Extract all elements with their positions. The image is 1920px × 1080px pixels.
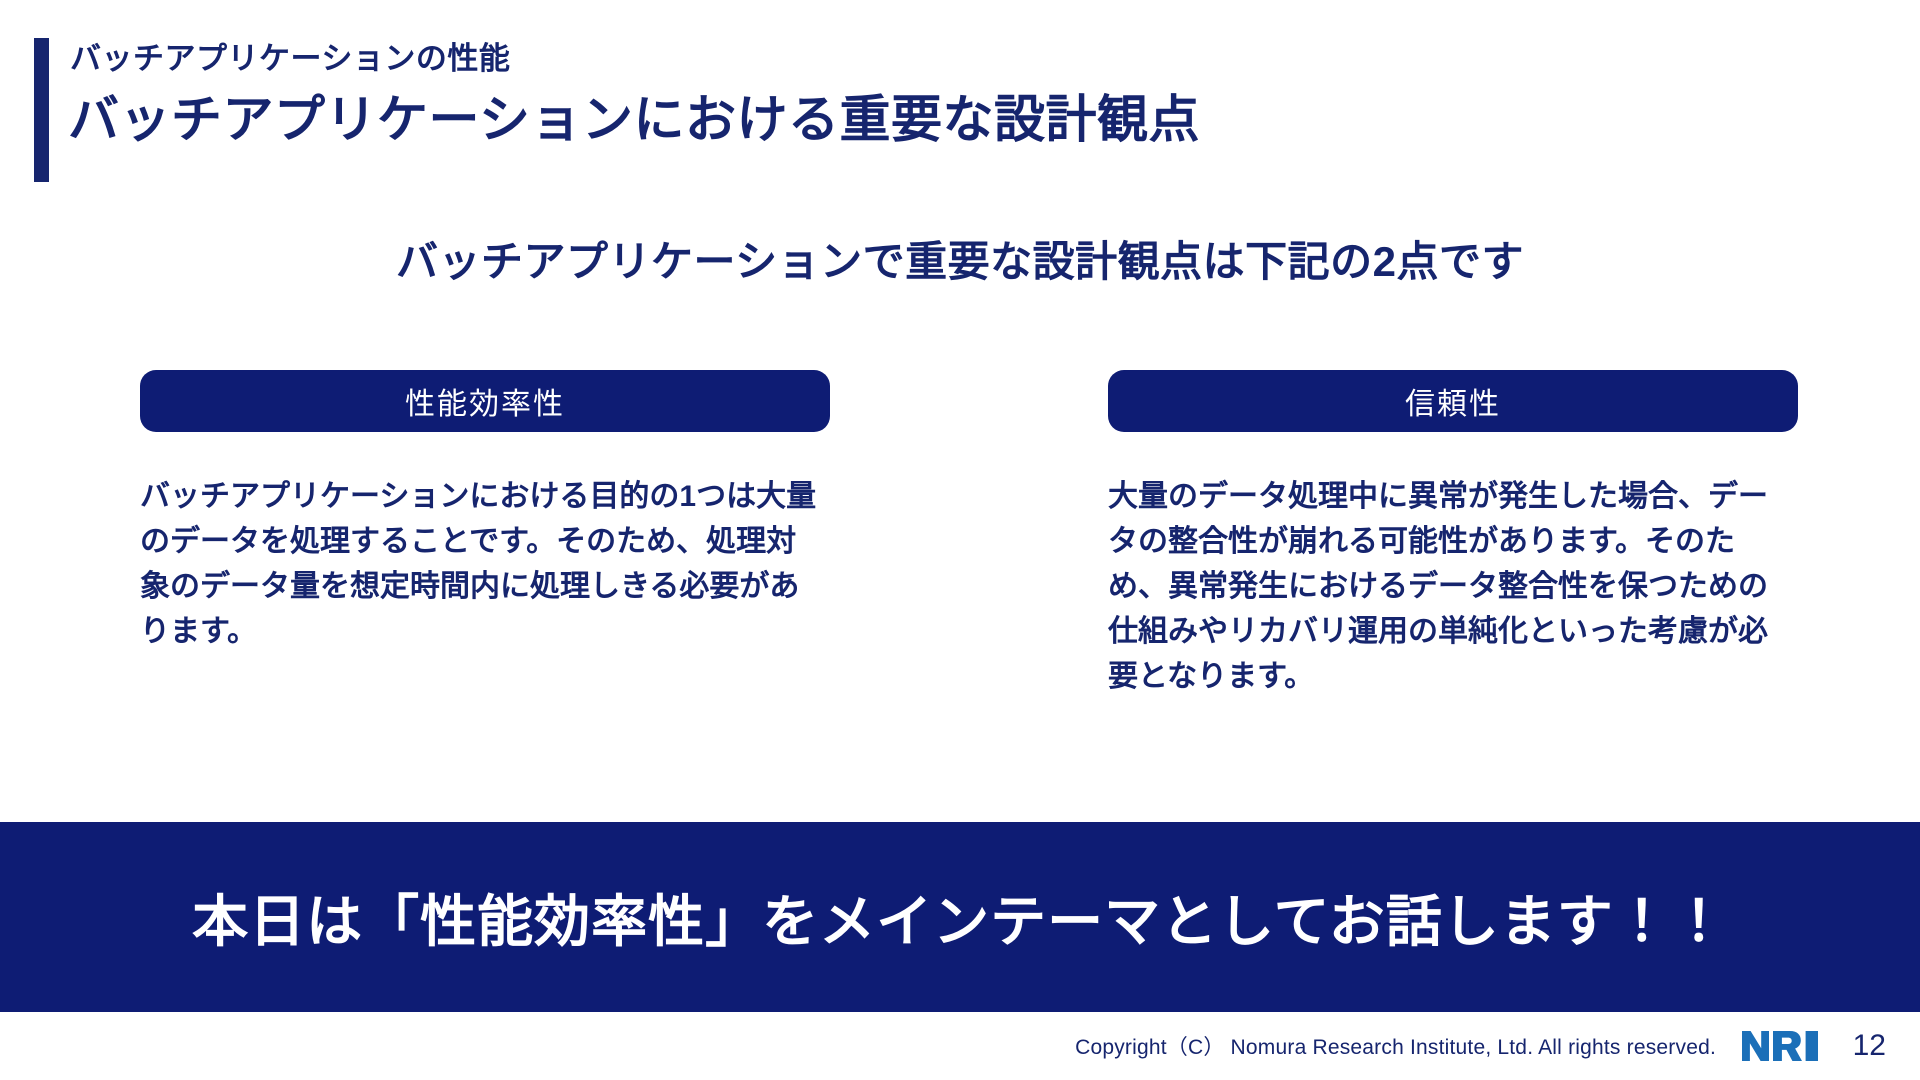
copyright-text: Copyright（C） Nomura Research Institute, … xyxy=(1075,1031,1716,1061)
emphasis-banner-text: 本日は「性能効率性」をメインテーマとしてお話します！！ xyxy=(192,877,1728,958)
slide: バッチアプリケーションの性能 バッチアプリケーションにおける重要な設計観点 バッ… xyxy=(0,0,1920,1080)
emphasis-banner: 本日は「性能効率性」をメインテーマとしてお話します！！ xyxy=(0,822,1920,1012)
content-columns: 性能効率性 バッチアプリケーションにおける目的の1つは大量のデータを処理すること… xyxy=(0,370,1920,800)
page-title: バッチアプリケーションにおける重要な設計観点 xyxy=(68,88,1200,152)
pill-header-reliability: 信頼性 xyxy=(1108,370,1798,432)
slide-footer: Copyright（C） Nomura Research Institute, … xyxy=(0,1012,1920,1080)
body-text-performance-efficiency: バッチアプリケーションにおける目的の1つは大量のデータを処理することです。そのた… xyxy=(140,474,820,654)
slide-header: バッチアプリケーションの性能 バッチアプリケーションにおける重要な設計観点 xyxy=(0,0,1920,190)
title-accent-bar xyxy=(34,38,49,182)
lead-statement: バッチアプリケーションで重要な設計観点は下記の2点です xyxy=(0,228,1920,289)
pill-header-performance-efficiency: 性能効率性 xyxy=(140,370,830,432)
section-eyebrow: バッチアプリケーションの性能 xyxy=(70,40,510,77)
column-reliability: 信頼性 大量のデータ処理中に異常が発生した場合、データの整合性が崩れる可能性があ… xyxy=(1108,370,1798,699)
column-performance-efficiency: 性能効率性 バッチアプリケーションにおける目的の1つは大量のデータを処理すること… xyxy=(140,370,830,654)
nri-logo-icon xyxy=(1742,1029,1818,1063)
page-number: 12 xyxy=(1848,1029,1886,1063)
body-text-reliability: 大量のデータ処理中に異常が発生した場合、データの整合性が崩れる可能性があります。… xyxy=(1108,474,1788,699)
